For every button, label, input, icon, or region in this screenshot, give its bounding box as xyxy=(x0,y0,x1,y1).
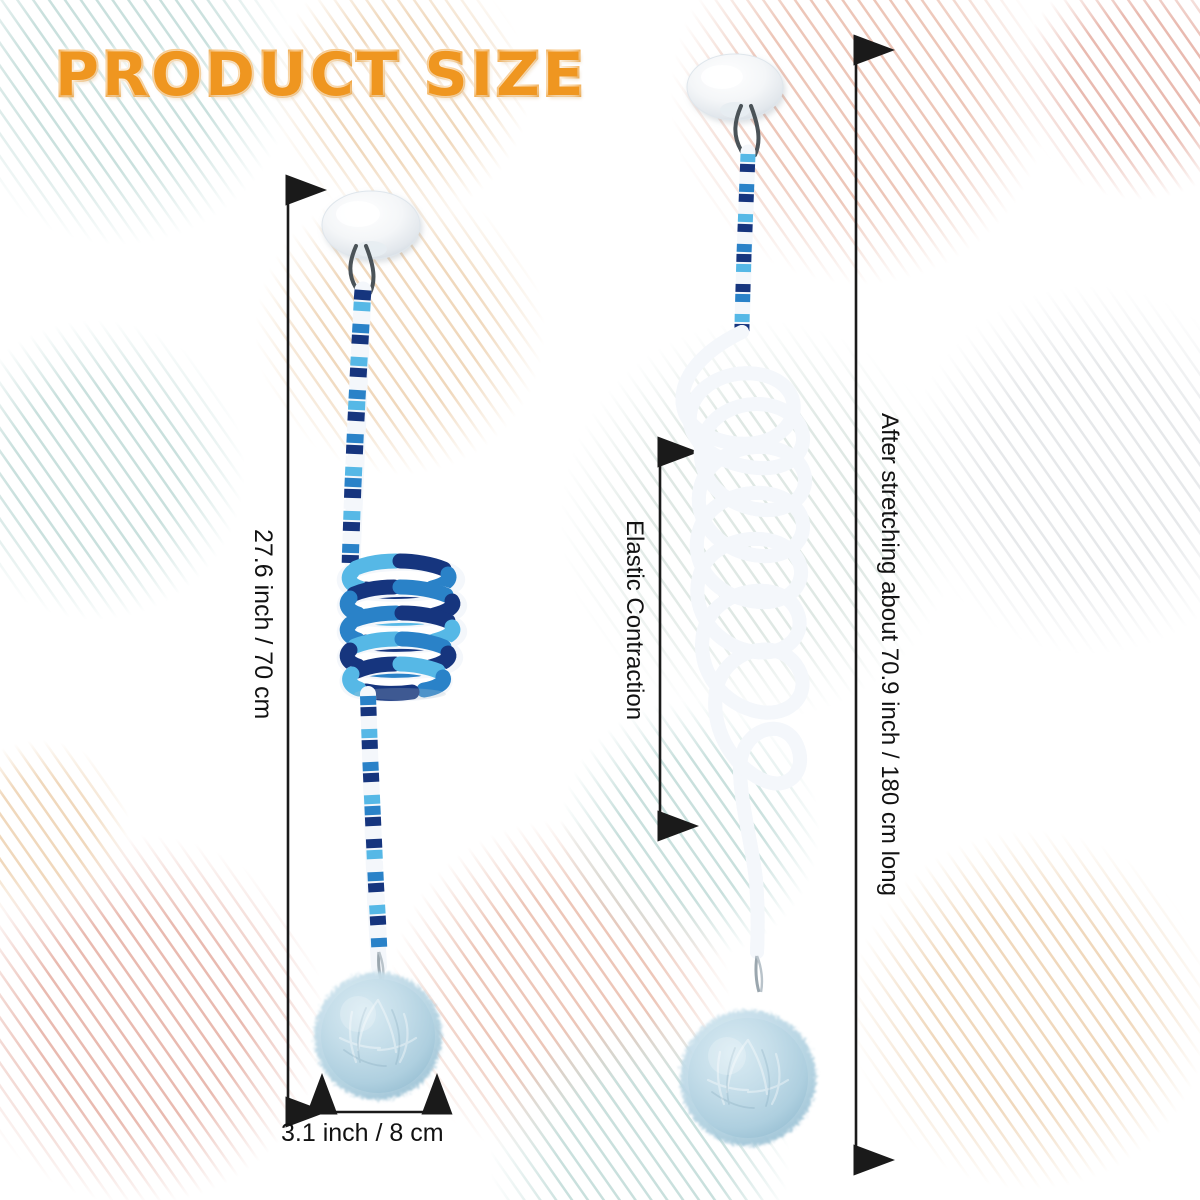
label-elastic-contraction: Elastic Contraction xyxy=(620,520,648,720)
striped-cord-top-right xyxy=(742,152,748,331)
product-left-coiled-toy xyxy=(314,191,460,1100)
pompom-ball-right xyxy=(680,1010,816,1146)
coil-section-left xyxy=(344,561,459,700)
product-illustration-layer xyxy=(0,0,1200,1200)
infographic-canvas: PRODUCT SIZE 27.6 inch / 70 cm Elastic C… xyxy=(0,0,1200,1200)
product-right-stretched-toy xyxy=(680,54,816,1146)
label-left-height: 27.6 inch / 70 cm xyxy=(248,529,277,719)
striped-elastic-spiral-right xyxy=(682,332,805,992)
suction-cup-right xyxy=(687,54,783,120)
page-title: PRODUCT SIZE xyxy=(55,40,587,110)
striped-cord-upper-left xyxy=(350,290,363,563)
suction-cup-left xyxy=(322,191,420,259)
label-left-width: 3.1 inch / 8 cm xyxy=(281,1119,444,1148)
label-right-length: After stretching about 70.9 inch / 180 c… xyxy=(875,413,903,896)
pompom-ball-left xyxy=(314,972,442,1100)
striped-cord-lower-left xyxy=(368,694,383,980)
